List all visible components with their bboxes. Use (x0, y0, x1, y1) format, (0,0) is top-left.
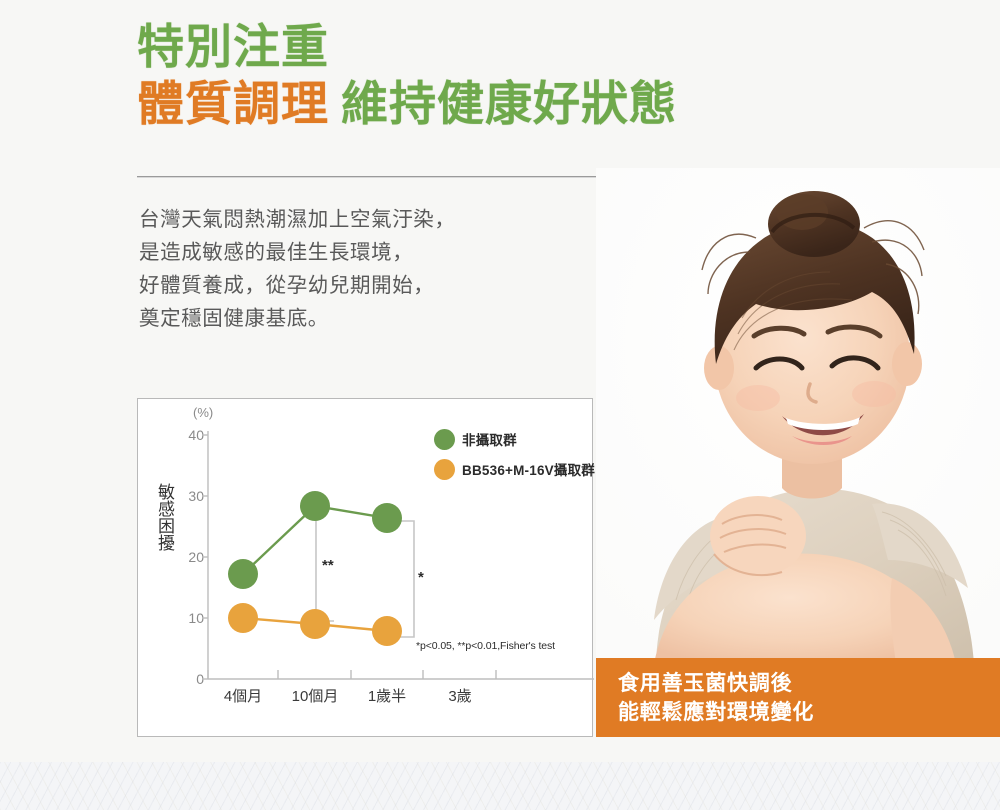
significance-star-p05: * (418, 569, 424, 586)
body-line-1: 台灣天氣悶熱潮濕加上空氣汙染， (139, 203, 569, 236)
body-line-4: 奠定穩固健康基底。 (139, 302, 569, 335)
x-tick-4months: 4個月 (203, 685, 283, 706)
promo-page: 特別注重 體質調理維持健康好狀態 台灣天氣悶熱潮濕加上空氣汙染， 是造成敏感的最… (0, 0, 1000, 810)
headline-line1-green-text: 特別注重 (137, 20, 329, 73)
x-tick-3years: 3歲 (420, 685, 500, 706)
child-photo (596, 168, 1000, 664)
chart-footnote: *p<0.05, **p<0.01,Fisher's test (416, 640, 555, 652)
headline-line-1: 特別注重 (137, 22, 757, 72)
body-paragraph: 台灣天氣悶熱潮濕加上空氣汙染， 是造成敏感的最佳生長環境， 好體質養成，從孕幼兒… (139, 203, 569, 335)
headline-line2-green-text: 維持健康好狀態 (341, 77, 677, 130)
child-photo-illustration (596, 168, 1000, 664)
body-line-3: 好體質養成，從孕幼兒期開始， (139, 269, 569, 302)
x-tick-1-5years: 1歲半 (347, 685, 427, 706)
orange-caption-banner: 食用善玉菌快調後 能輕鬆應對環境變化 (596, 658, 1000, 737)
headline-line-2: 體質調理維持健康好狀態 (137, 79, 757, 129)
body-line-2: 是造成敏感的最佳生長環境， (139, 236, 569, 269)
caption-line-1: 食用善玉菌快調後 (618, 669, 1000, 698)
bottom-texture-strip (0, 762, 1000, 810)
significance-star-p01: ** (322, 557, 334, 574)
caption-line-2: 能輕鬆應對環境變化 (618, 698, 1000, 727)
headline-line2-orange-text: 體質調理 (137, 77, 329, 130)
x-tick-10months: 10個月 (275, 685, 355, 706)
page-headline: 特別注重 體質調理維持健康好狀態 (137, 22, 757, 129)
sensitivity-chart-panel: (%) 敏感困擾 非攝取群 BB536+M-16V攝取群 40 30 20 10… (137, 398, 593, 737)
